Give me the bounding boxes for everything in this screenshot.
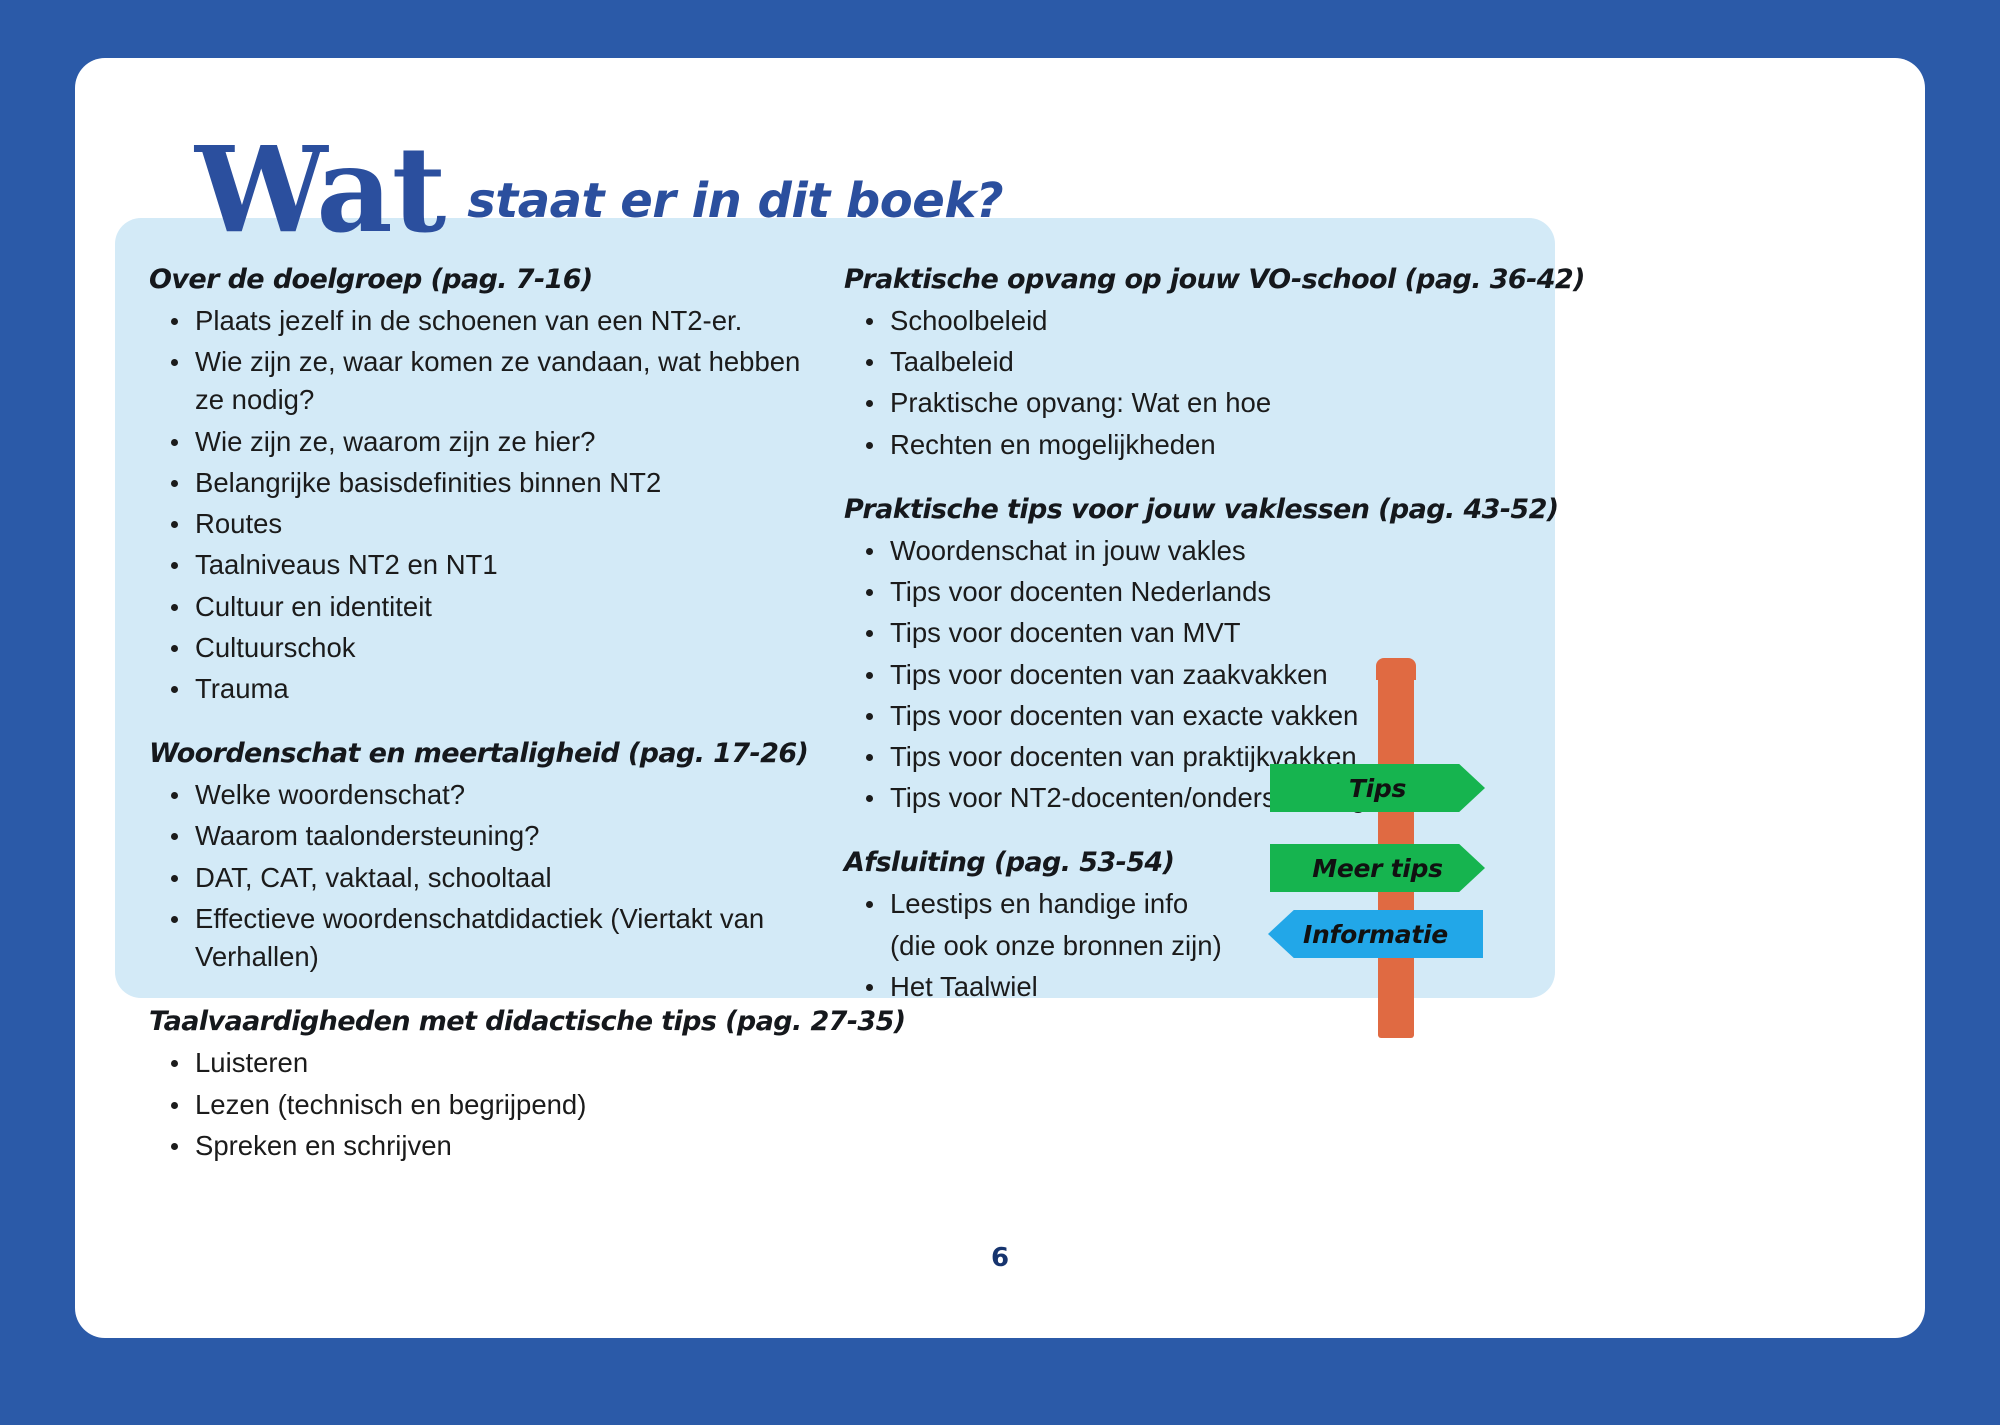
list-item: Cultuurschok [149, 629, 836, 667]
list-item: Taalniveaus NT2 en NT1 [149, 546, 836, 584]
list-item: Effectieve woordenschatdidactiek (Vierta… [149, 900, 836, 976]
section-heading: Praktische tips voor jouw vaklessen (pag… [844, 494, 1521, 525]
section-taalvaardigheden: Taalvaardigheden met didactische tips (p… [149, 1006, 836, 1165]
list-item: Trauma [149, 670, 836, 708]
section-heading: Woordenschat en meertaligheid (pag. 17-2… [149, 738, 836, 769]
section-heading: Taalvaardigheden met didactische tips (p… [149, 1006, 836, 1037]
list-item: Rechten en mogelijkheden [844, 426, 1521, 464]
page-title-subtitle: staat er in dit boek? [467, 173, 1003, 229]
list-item: Luisteren [149, 1044, 836, 1082]
section-woordenschat-en-meertaligheid: Woordenschat en meertaligheid (pag. 17-2… [149, 738, 836, 976]
list-item: Cultuur en identiteit [149, 588, 836, 626]
list-item: Tips voor docenten Nederlands [844, 573, 1521, 611]
section-list: Welke woordenschat? Waarom taalondersteu… [149, 776, 836, 976]
signpost-label: Meer tips [1312, 854, 1442, 883]
page-title: Wat staat er in dit boek? [195, 136, 1003, 245]
list-item: Woordenschat in jouw vakles [844, 532, 1521, 570]
section-list: Plaats jezelf in de schoenen van een NT2… [149, 302, 836, 708]
list-item: DAT, CAT, vaktaal, schooltaal [149, 859, 836, 897]
list-item: Belangrijke basisdefinities binnen NT2 [149, 464, 836, 502]
book-page: Inkijken Wat staat er in dit boek? Over … [75, 58, 1925, 1338]
signpost-sign-meer-tips: Meer tips [1270, 844, 1485, 892]
list-item: Wie zijn ze, waar komen ze vandaan, wat … [149, 343, 836, 419]
section-list: Luisteren Lezen (technisch en begrijpend… [149, 1044, 836, 1165]
list-item: Welke woordenschat? [149, 776, 836, 814]
signpost-label: Informatie [1303, 920, 1448, 949]
list-item: Tips voor docenten van MVT [844, 614, 1521, 652]
list-item: Praktische opvang: Wat en hoe [844, 384, 1521, 422]
list-item: Plaats jezelf in de schoenen van een NT2… [149, 302, 836, 340]
list-item: Spreken en schrijven [149, 1127, 836, 1165]
section-heading: Praktische opvang op jouw VO-school (pag… [844, 264, 1521, 295]
section-over-de-doelgroep: Over de doelgroep (pag. 7-16) Plaats jez… [149, 264, 836, 708]
page-number: 6 [75, 1243, 1925, 1273]
list-item: Waarom taalondersteuning? [149, 817, 836, 855]
list-item: Schoolbeleid [844, 302, 1521, 340]
list-item: Routes [149, 505, 836, 543]
section-praktische-opvang: Praktische opvang op jouw VO-school (pag… [844, 264, 1521, 464]
signpost-sign-informatie: Informatie [1268, 910, 1483, 958]
left-column: Over de doelgroep (pag. 7-16) Plaats jez… [115, 218, 870, 998]
page-title-main: Wat [195, 136, 445, 245]
signpost-label: Tips [1349, 774, 1406, 803]
list-item: Taalbeleid [844, 343, 1521, 381]
signpost-sign-tips: Tips [1270, 764, 1485, 812]
list-item: Lezen (technisch en begrijpend) [149, 1086, 836, 1124]
list-item: Wie zijn ze, waarom zijn ze hier? [149, 423, 836, 461]
section-list: Schoolbeleid Taalbeleid Praktische opvan… [844, 302, 1521, 464]
signpost-graphic: Tips Meer tips Informatie [1260, 658, 1530, 1038]
section-heading: Over de doelgroep (pag. 7-16) [149, 264, 836, 295]
